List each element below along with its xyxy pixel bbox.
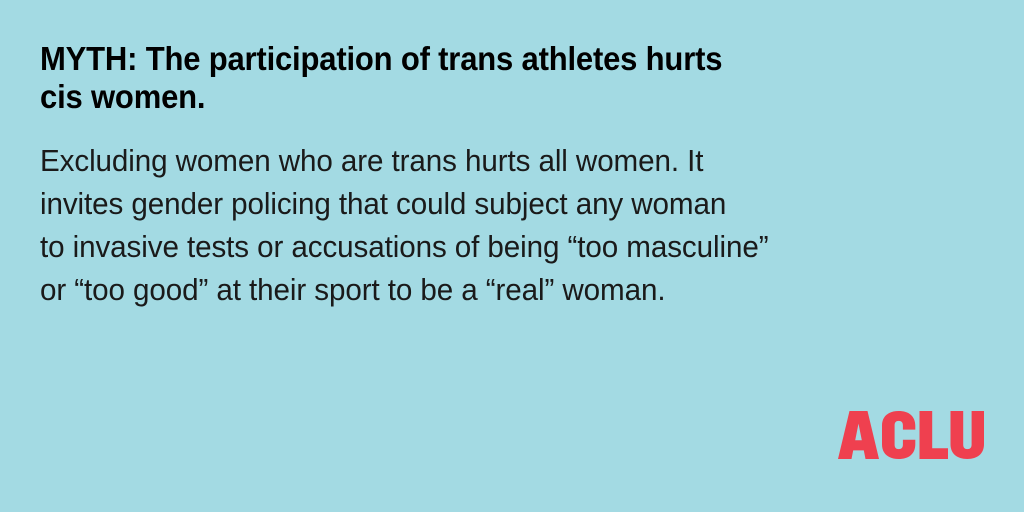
aclu-logo	[838, 411, 984, 459]
aclu-logo-icon	[838, 411, 984, 459]
myth-fact-card: MYTH: The participation of trans athlete…	[0, 0, 1024, 512]
page-title: MYTH: The participation of trans athlete…	[40, 40, 886, 116]
card-text-block: MYTH: The participation of trans athlete…	[40, 40, 940, 311]
body-paragraph: Excluding women who are trans hurts all …	[40, 116, 900, 311]
